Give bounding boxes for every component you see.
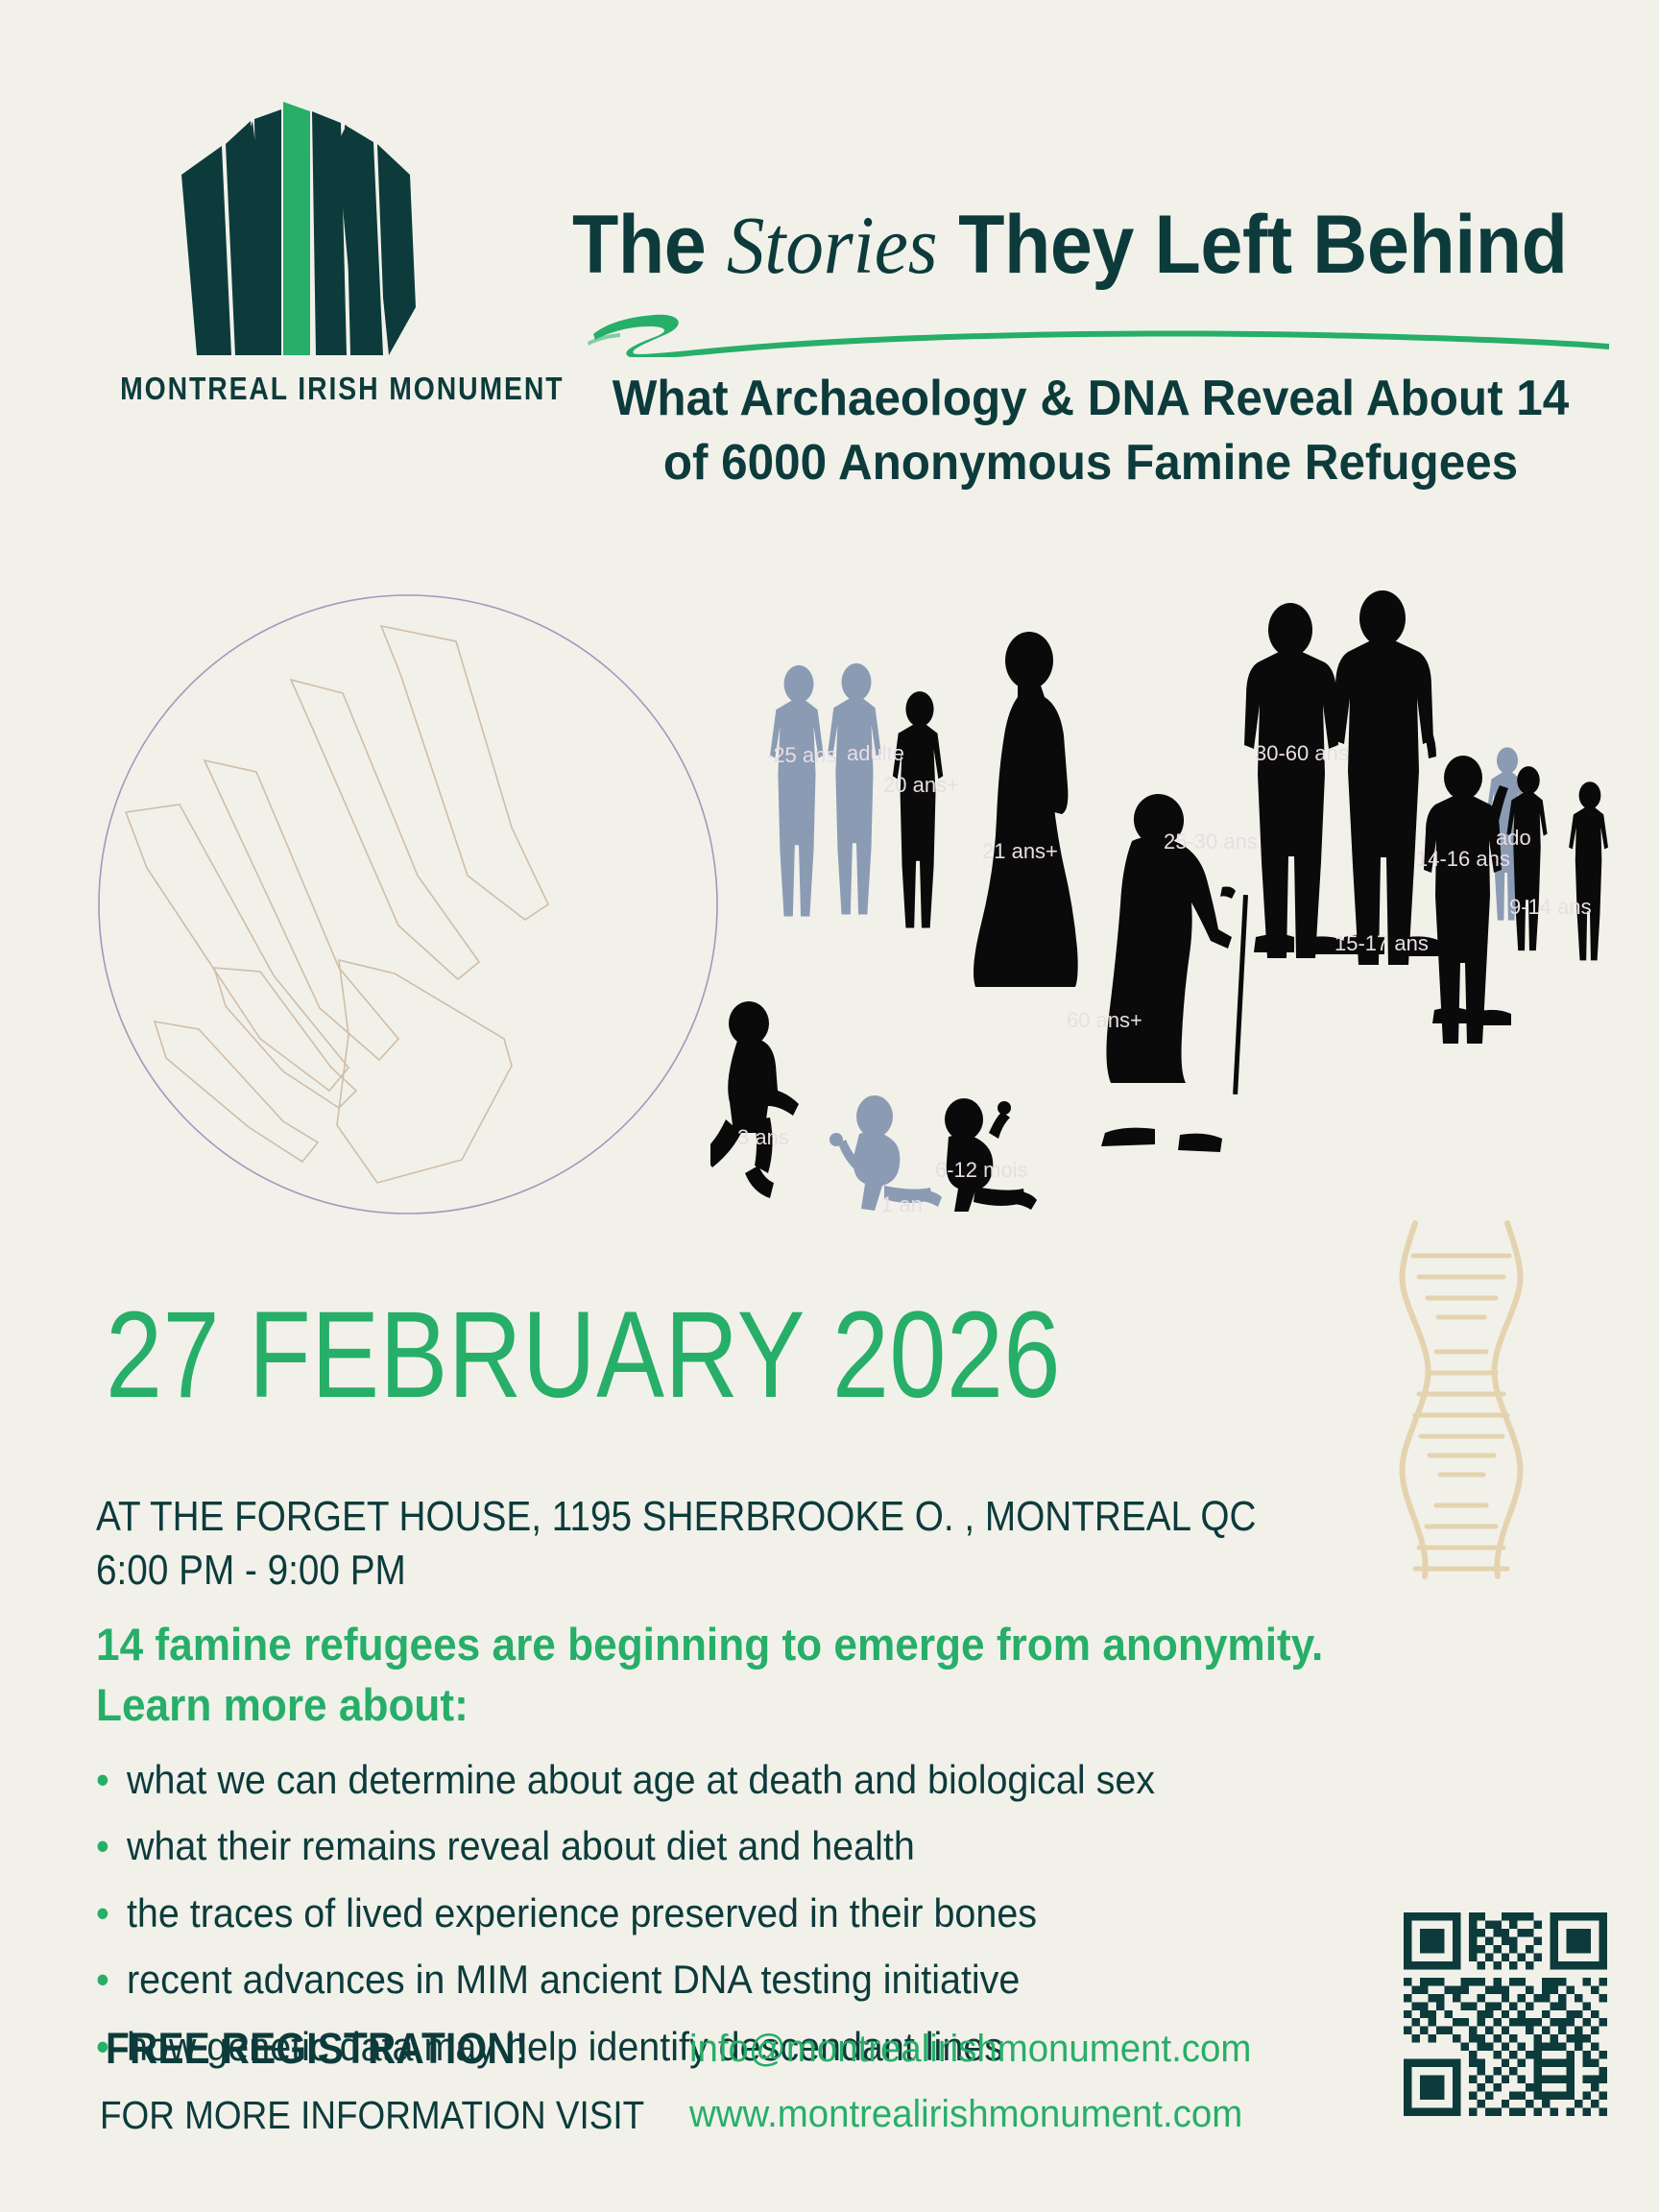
page-title: The Stories They Left Behind [572,204,1517,286]
bullet-icon: • [96,1753,109,1806]
figure-label-9-14ans: 9-14 ans [1509,895,1592,919]
list-item-label: the traces of lived experience preserved… [127,1890,1037,1935]
figure-label-30-60ans: 30-60 ans [1255,741,1349,765]
list-item-label: what we can determine about age at death… [127,1757,1155,1802]
list-item: •what we can determine about age at deat… [96,1753,1314,1806]
mim-monument-logo-icon [158,67,437,365]
figure-label-3ans: 3 ans [737,1125,789,1149]
figure-label-21ans: 21 ans+ [982,839,1058,863]
more-information-label: FOR MORE INFORMATION VISIT [100,2093,644,2138]
figure-label-15-17ans: 15-17 ans [1334,931,1429,955]
title-emphasis-stories: Stories [727,199,938,291]
list-item: •recent advances in MIM ancient DNA test… [96,1953,1314,2006]
bullet-icon: • [96,1819,109,1872]
website-link[interactable]: www.montrealirishmonument.com [689,2093,1242,2136]
poster-canvas: MONTREAL IRISH MONUMENT The Stories They… [0,0,1659,2212]
figure-label-1an: 1 an [881,1192,923,1212]
famine-refugee-silhouettes: -25 ans adulte 20 ans+ 21 ans+ 60 ans+ 2… [710,588,1623,1212]
brand-wordmark: MONTREAL IRISH MONUMENT [120,371,475,407]
figure-label-6-12mois: 6-12 mois [935,1158,1028,1182]
list-item-label: recent advances in MIM ancient DNA testi… [127,1957,1020,2002]
circular-burial-plan-icon [91,588,725,1221]
bullet-icon: • [96,1887,109,1939]
title-part-2: They Left Behind [938,199,1568,291]
green-brush-underline-icon [588,307,1615,357]
brand-logo-block: MONTREAL IRISH MONUMENT [91,67,504,407]
event-venue: AT THE FORGET HOUSE, 1195 SHERBROOKE O. … [96,1490,1296,1599]
page-subtitle: What Archaeology & DNA Reveal About 14 o… [598,367,1583,494]
free-registration-heading: FREE REGISTRATION! [106,2024,529,2074]
event-tagline: 14 famine refugees are beginning to emer… [96,1615,1503,1736]
contact-email-link[interactable]: info@montrealirishmonument.com [689,2028,1251,2071]
list-item: •what their remains reveal about diet an… [96,1819,1314,1872]
figure-label-ado: ado [1496,826,1531,850]
figure-label-25ans: -25 ans [766,743,836,767]
title-part-1: The [572,199,727,291]
bullet-icon: • [96,1953,109,2006]
qr-code-icon[interactable] [1404,1912,1607,2116]
figure-label-adulte: adulte [847,741,904,765]
list-item-label: what their remains reveal about diet and… [127,1823,915,1868]
figure-label-25-30ans: 25-30 ans [1164,829,1258,854]
list-item: •the traces of lived experience preserve… [96,1887,1314,1939]
dna-double-helix-icon [1375,1217,1548,1582]
event-date: 27 FEBRUARY 2026 [106,1294,1061,1417]
figure-label-14-16ans: 14-16 ans [1416,847,1510,871]
figure-label-60ans: 60 ans+ [1067,1008,1142,1032]
title-block: The Stories They Left Behind [572,204,1599,286]
figure-label-20ans: 20 ans+ [883,773,959,797]
